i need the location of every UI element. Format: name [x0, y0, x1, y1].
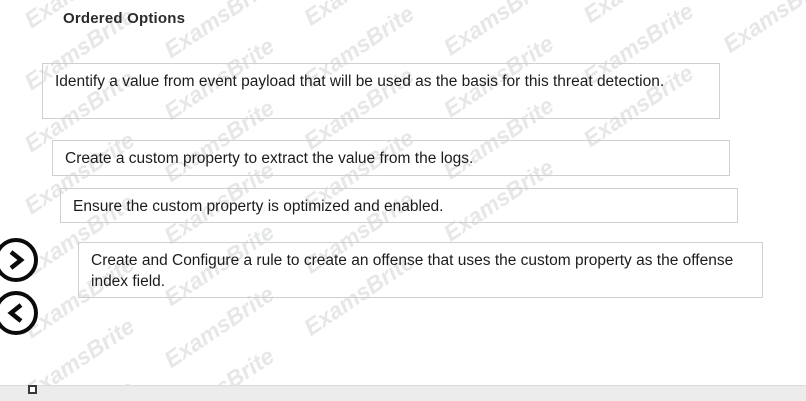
move-next-button[interactable]: [0, 238, 38, 282]
question-canvas: ExamsBriteExamsBriteExamsBriteExamsBrite…: [0, 0, 806, 401]
status-bar: [0, 385, 806, 401]
square-icon: [28, 385, 37, 394]
page-title: Ordered Options: [63, 10, 185, 27]
ordered-option-item-4[interactable]: Create and Configure a rule to create an…: [78, 242, 763, 298]
ordered-option-item-1[interactable]: Identify a value from event payload that…: [42, 63, 720, 119]
ordered-option-item-3[interactable]: Ensure the custom property is optimized …: [60, 188, 738, 223]
ordered-option-item-2[interactable]: Create a custom property to extract the …: [52, 140, 730, 176]
chevron-right-icon: [6, 249, 26, 271]
move-previous-button[interactable]: [0, 291, 38, 335]
chevron-left-icon: [6, 302, 26, 324]
